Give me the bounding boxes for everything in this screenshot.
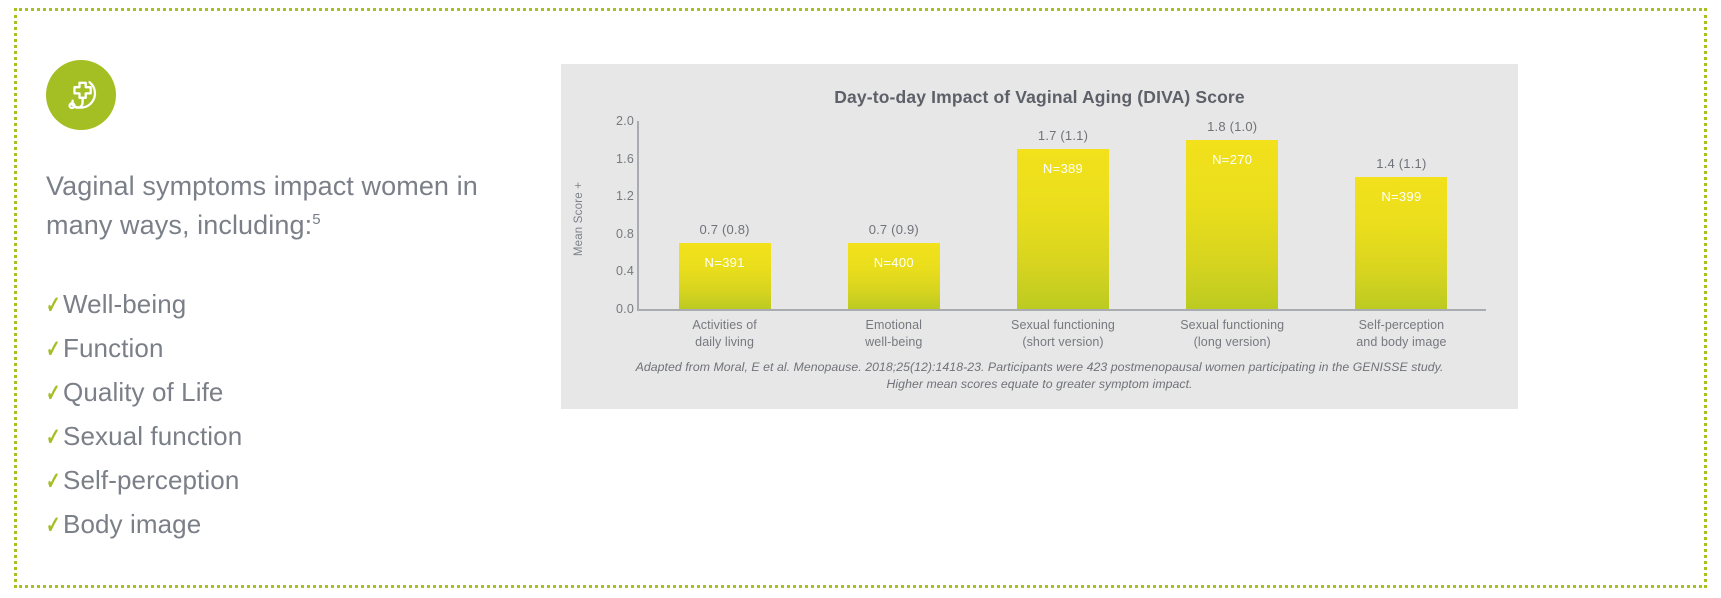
chart-panel: Day-to-day Impact of Vaginal Aging (DIVA…: [561, 64, 1518, 409]
y-axis-tick: 1.2: [594, 189, 634, 203]
bar[interactable]: N=400: [848, 243, 940, 309]
x-axis-tick-label: Self-perceptionand body image: [1317, 317, 1486, 351]
y-axis-label: Mean Score +: [573, 164, 585, 274]
x-axis-tick-label-line: and body image: [1317, 334, 1486, 351]
bar-series: 0.7 (0.8)N=3910.7 (0.9)N=4001.7 (1.1)N=3…: [640, 121, 1486, 309]
y-axis-tick: 2.0: [594, 114, 634, 128]
x-axis-tick-labels: Activities ofdaily livingEmotionalwell-b…: [640, 317, 1486, 351]
bar-sample-size-label: N=391: [679, 255, 771, 270]
benefits-list: ✓ Well-being ✓ Function ✓ Quality of Lif…: [46, 285, 526, 543]
check-icon: ✓: [46, 331, 58, 369]
y-axis-tick: 0.4: [594, 264, 634, 278]
list-item: ✓ Well-being: [46, 285, 526, 323]
list-item-label: Quality of Life: [63, 373, 223, 411]
y-axis-line: [637, 121, 639, 310]
chart-footnote-line-2: Higher mean scores equate to greater sym…: [591, 376, 1488, 393]
x-axis-tick-label-line: (short version): [978, 334, 1147, 351]
y-axis-tick: 0.8: [594, 227, 634, 241]
list-item-label: Sexual function: [63, 417, 242, 455]
slide-root: Vaginal symptoms impact women in many wa…: [0, 0, 1721, 598]
check-icon: ✓: [46, 375, 58, 413]
check-icon: ✓: [46, 287, 58, 325]
bar-slot: 1.7 (1.1)N=389: [978, 121, 1147, 309]
bar-sample-size-label: N=399: [1355, 189, 1447, 204]
y-axis-ticks: 2.01.61.20.80.40.0: [589, 121, 634, 309]
x-axis-tick-label: Sexual functioning(short version): [978, 317, 1147, 351]
x-axis-tick-label-line: well-being: [809, 334, 978, 351]
list-item: ✓ Body image: [46, 505, 526, 543]
list-item: ✓ Function: [46, 329, 526, 367]
bar-value-label: 1.4 (1.1): [1317, 156, 1486, 171]
bar-value-label: 0.7 (0.8): [640, 222, 809, 237]
chart-footnote: Adapted from Moral, E et al. Menopause. …: [591, 359, 1488, 393]
bar-sample-size-label: N=400: [848, 255, 940, 270]
page-title: Vaginal symptoms impact women in many wa…: [46, 167, 526, 245]
bar-slot: 0.7 (0.8)N=391: [640, 121, 809, 309]
x-axis-tick-label-line: daily living: [640, 334, 809, 351]
bar-value-label: 1.8 (1.0): [1148, 119, 1317, 134]
left-content-column: Vaginal symptoms impact women in many wa…: [46, 60, 526, 549]
bar[interactable]: N=270: [1186, 140, 1278, 309]
x-axis-tick-label-line: Emotional: [809, 317, 978, 334]
plot-area: Mean Score + 2.01.61.20.80.40.0 0.7 (0.8…: [561, 121, 1518, 336]
x-axis-tick-label: Sexual functioning(long version): [1148, 317, 1317, 351]
x-axis-tick-label: Activities ofdaily living: [640, 317, 809, 351]
headline-text: Vaginal symptoms impact women in many wa…: [46, 171, 478, 240]
list-item: ✓ Sexual function: [46, 417, 526, 455]
y-axis-tick: 1.6: [594, 152, 634, 166]
bar-value-label: 1.7 (1.1): [978, 128, 1147, 143]
list-item-label: Body image: [63, 505, 201, 543]
x-axis-line: [637, 309, 1486, 311]
headline-reference-marker: 5: [312, 211, 320, 228]
list-item: ✓ Quality of Life: [46, 373, 526, 411]
list-item-label: Function: [63, 329, 164, 367]
x-axis-tick-label-line: Sexual functioning: [978, 317, 1147, 334]
x-axis-tick-label-line: Sexual functioning: [1148, 317, 1317, 334]
bar[interactable]: N=389: [1017, 149, 1109, 309]
bar-slot: 1.8 (1.0)N=270: [1148, 121, 1317, 309]
bar[interactable]: N=391: [679, 243, 771, 309]
x-axis-tick-label: Emotionalwell-being: [809, 317, 978, 351]
bar[interactable]: N=399: [1355, 177, 1447, 309]
list-item: ✓ Self-perception: [46, 461, 526, 499]
bar-slot: 1.4 (1.1)N=399: [1317, 121, 1486, 309]
check-icon: ✓: [46, 507, 58, 545]
check-icon: ✓: [46, 419, 58, 457]
x-axis-tick-label-line: Self-perception: [1317, 317, 1486, 334]
y-axis-tick: 0.0: [594, 302, 634, 316]
list-item-label: Well-being: [63, 285, 186, 323]
bar-sample-size-label: N=270: [1186, 152, 1278, 167]
check-icon: ✓: [46, 463, 58, 501]
chart-footnote-line-1: Adapted from Moral, E et al. Menopause. …: [591, 359, 1488, 376]
bar-sample-size-label: N=389: [1017, 161, 1109, 176]
list-item-label: Self-perception: [63, 461, 239, 499]
stethoscope-medical-cross-icon: [46, 60, 116, 130]
x-axis-tick-label-line: (long version): [1148, 334, 1317, 351]
bar-slot: 0.7 (0.9)N=400: [809, 121, 978, 309]
bar-value-label: 0.7 (0.9): [809, 222, 978, 237]
chart-title: Day-to-day Impact of Vaginal Aging (DIVA…: [561, 87, 1518, 108]
x-axis-tick-label-line: Activities of: [640, 317, 809, 334]
